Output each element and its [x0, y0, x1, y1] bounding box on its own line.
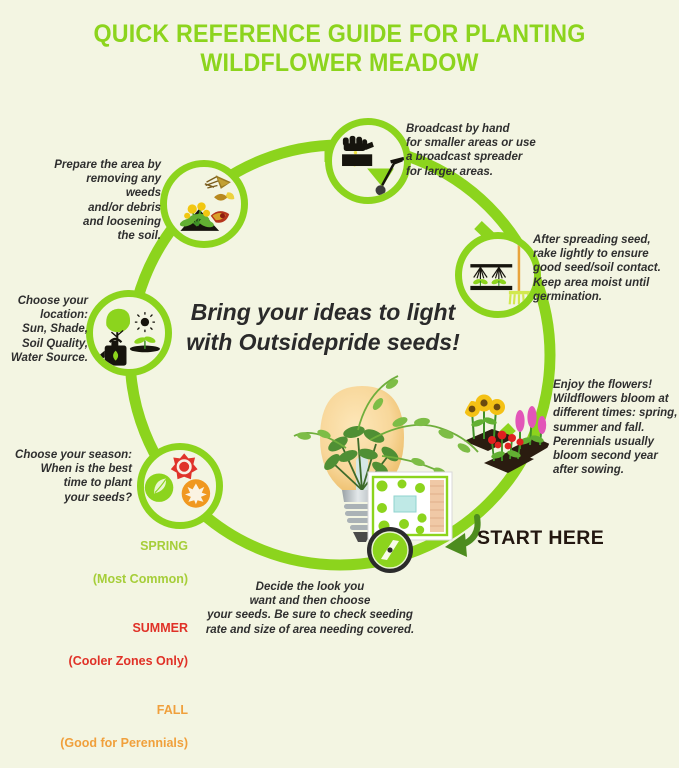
- callout-decide-look: Decide the look you want and then choose…: [182, 580, 438, 637]
- start-here-label: START HERE: [477, 527, 604, 550]
- callout-choose-location: Choose your location: Sun, Shade, Soil Q…: [6, 294, 88, 365]
- callout-broadcast-seed: Broadcast by hand for smaller areas or u…: [406, 122, 566, 179]
- season-fall: FALL (Good for Perennials): [20, 685, 188, 751]
- season-summer: SUMMER (Cooler Zones Only): [20, 603, 188, 669]
- node-broadcast-seed[interactable]: [325, 118, 411, 204]
- season-legend: SPRING (Most Common) SUMMER (Cooler Zone…: [20, 505, 188, 768]
- season-summer-name: SUMMER: [132, 621, 188, 635]
- node-prepare-area[interactable]: [160, 160, 248, 248]
- callout-rake-seed: After spreading seed, rake lightly to en…: [533, 233, 679, 304]
- tree-sun-wateringcan-icon: [93, 297, 165, 369]
- season-summer-note: (Cooler Zones Only): [69, 654, 188, 668]
- callout-prepare-area: Prepare the area by removing any weeds a…: [48, 158, 161, 243]
- hand-broadcasting-seed-icon: [332, 125, 404, 197]
- season-spring-name: SPRING: [140, 539, 188, 553]
- callout-enjoy-flowers: Enjoy the flowers! Wildflowers bloom at …: [553, 378, 679, 477]
- season-spring: SPRING (Most Common): [20, 521, 188, 587]
- tagline: Bring your ideas to light with Outsidepr…: [168, 297, 478, 357]
- infographic-canvas: QUICK REFERENCE GUIDE FOR PLANTING WILDF…: [0, 0, 679, 679]
- season-fall-name: FALL: [157, 703, 188, 717]
- season-spring-note: (Most Common): [93, 572, 188, 586]
- weeds-debris-icon: [167, 167, 241, 241]
- season-fall-note: (Good for Perennials): [60, 736, 188, 750]
- callout-choose-season: Choose your season: When is the best tim…: [14, 448, 132, 505]
- node-choose-location[interactable]: [86, 290, 172, 376]
